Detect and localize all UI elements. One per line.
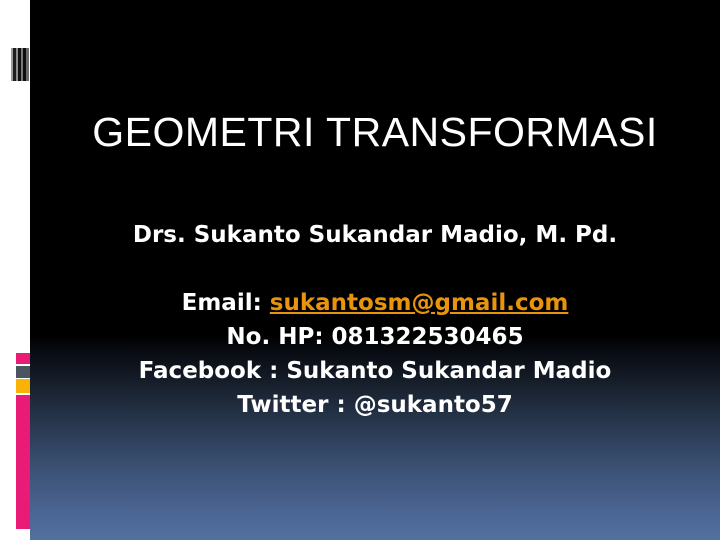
accent-bar-pink-long: [16, 395, 30, 529]
striped-bar-decoration: [11, 48, 29, 81]
facebook-line: Facebook : Sukanto Sukandar Madio: [30, 354, 720, 388]
slide-body: Drs. Sukanto Sukandar Madio, M. Pd. Emai…: [30, 218, 720, 422]
phone-line: No. HP: 081322530465: [30, 320, 720, 354]
accent-bar-slate: [16, 366, 30, 378]
email-label: Email:: [182, 290, 270, 316]
slide-canvas: GEOMETRI TRANSFORMASI Drs. Sukanto Sukan…: [0, 0, 720, 540]
email-line: Email: sukantosm@gmail.com: [30, 286, 720, 320]
accent-bar-pink-top: [16, 353, 30, 364]
email-link[interactable]: sukantosm@gmail.com: [270, 290, 569, 316]
slide-title: GEOMETRI TRANSFORMASI: [30, 110, 720, 155]
slide-content-panel: GEOMETRI TRANSFORMASI Drs. Sukanto Sukan…: [30, 0, 720, 540]
twitter-line: Twitter : @sukanto57: [30, 388, 720, 422]
accent-bar-gold: [16, 379, 30, 393]
body-spacer: [30, 252, 720, 286]
author-line: Drs. Sukanto Sukandar Madio, M. Pd.: [30, 218, 720, 252]
